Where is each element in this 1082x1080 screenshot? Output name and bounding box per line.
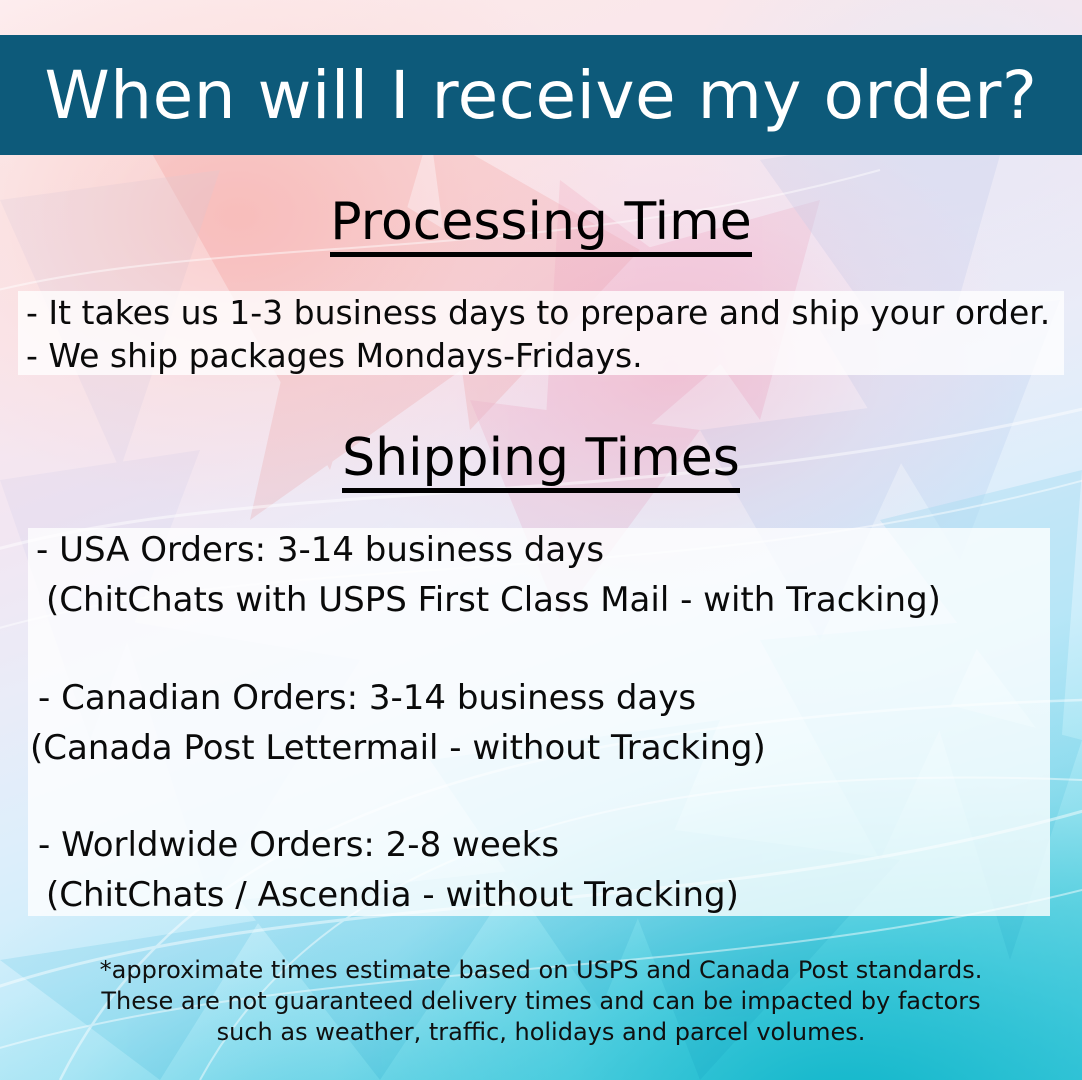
worldwide-orders-carrier: (ChitChats / Ascendia - without Tracking…	[46, 875, 739, 915]
disclaimer: *approximate times estimate based on USP…	[0, 955, 1082, 1048]
canadian-orders-duration: - Canadian Orders: 3-14 business days	[38, 678, 696, 718]
processing-time-heading: Processing Time	[0, 192, 1082, 257]
usa-orders-carrier: (ChitChats with USPS First Class Mail - …	[46, 580, 941, 620]
header-banner: When will I receive my order?	[0, 35, 1082, 155]
processing-line-2: - We ship packages Mondays-Fridays.	[26, 336, 643, 375]
page-title: When will I receive my order?	[45, 57, 1038, 134]
disclaimer-line-1: *approximate times estimate based on USP…	[0, 955, 1082, 986]
shipping-times-heading-text: Shipping Times	[342, 431, 740, 493]
shipping-times-heading: Shipping Times	[0, 428, 1082, 493]
disclaimer-line-2: These are not guaranteed delivery times …	[0, 986, 1082, 1017]
processing-line-1: - It takes us 1-3 business days to prepa…	[26, 293, 1050, 332]
disclaimer-line-3: such as weather, traffic, holidays and p…	[0, 1017, 1082, 1048]
worldwide-orders-duration: - Worldwide Orders: 2-8 weeks	[38, 825, 559, 865]
usa-orders-duration: - USA Orders: 3-14 business days	[36, 530, 604, 570]
processing-time-heading-text: Processing Time	[330, 195, 751, 257]
shipping-info-poster: When will I receive my order? Processing…	[0, 0, 1082, 1080]
canadian-orders-carrier: (Canada Post Lettermail - without Tracki…	[30, 728, 766, 768]
